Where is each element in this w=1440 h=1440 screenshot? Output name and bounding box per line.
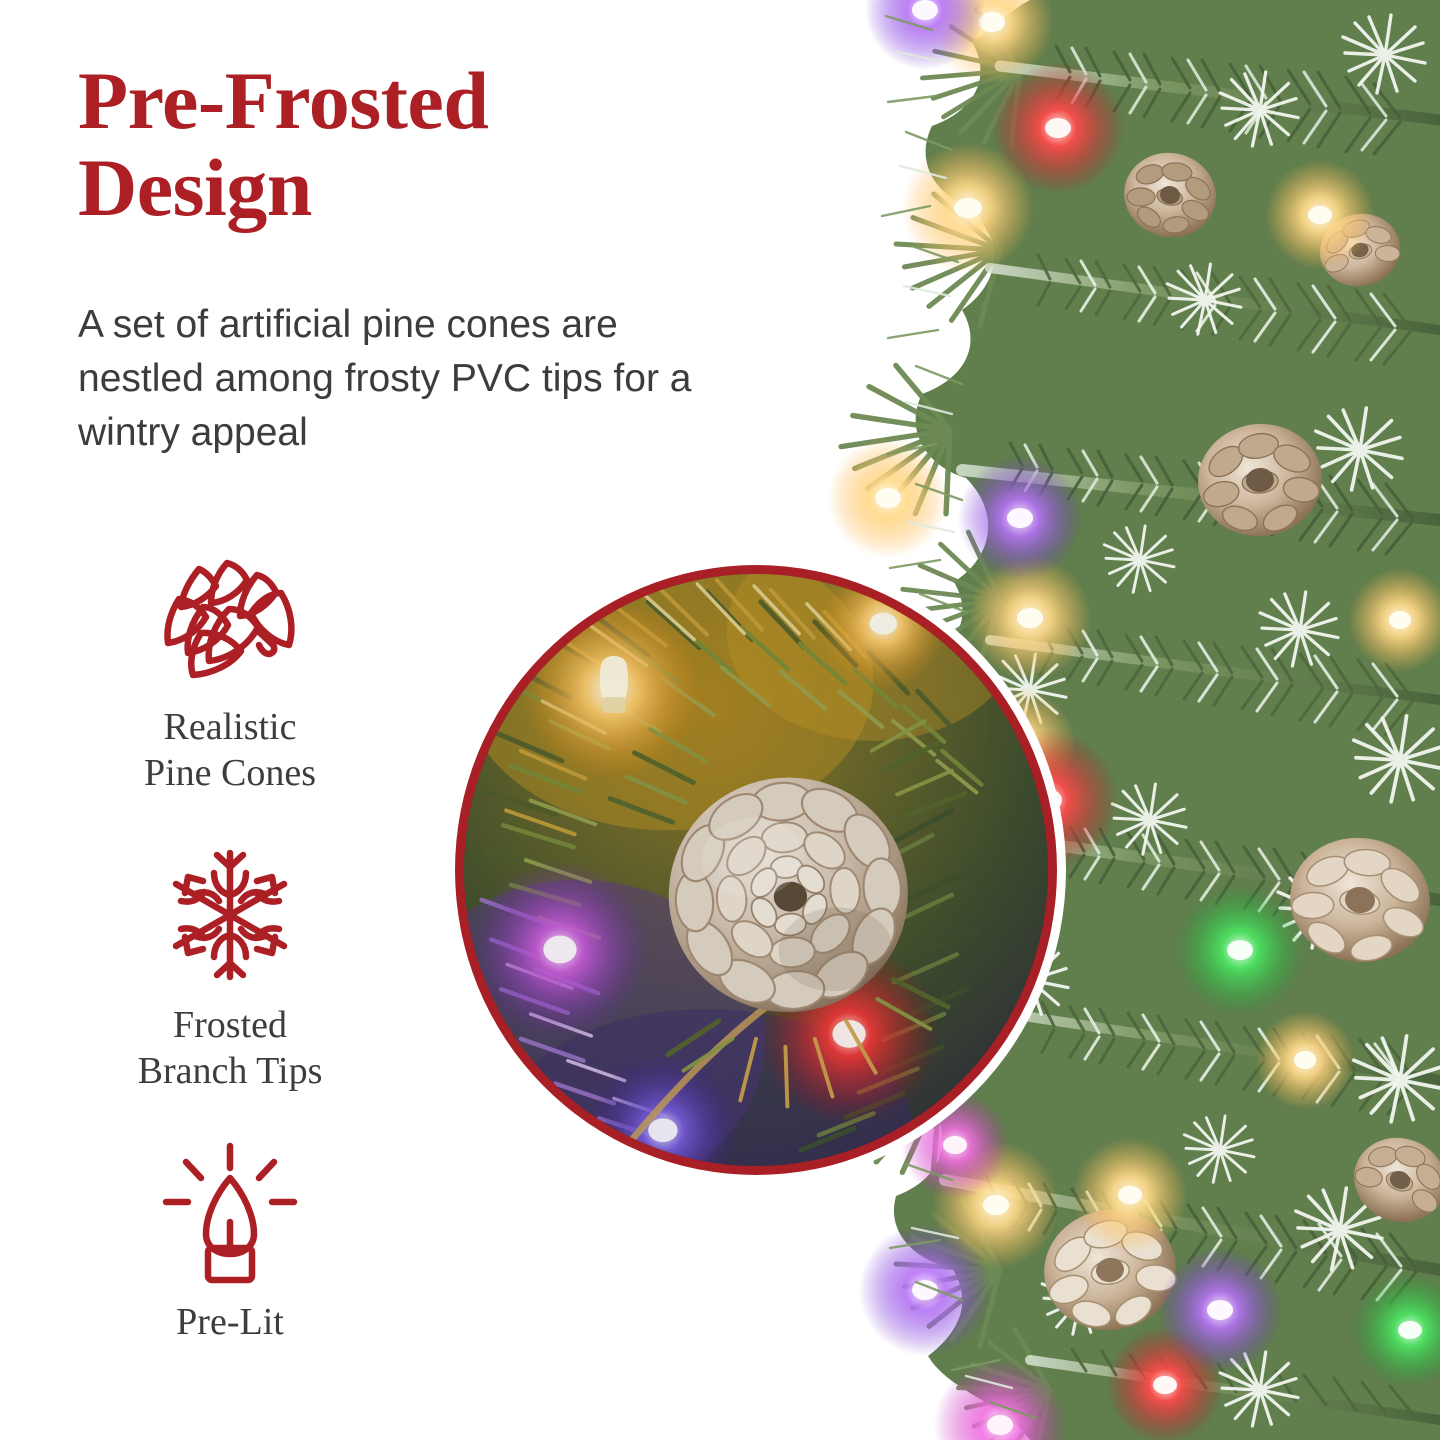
feature-list: Realistic Pine Cones — [75, 545, 385, 1346]
feature-label-frosted-branch-tips: Frosted Branch Tips — [138, 1002, 323, 1095]
snowflake-icon — [150, 843, 310, 988]
feature-item-frosted-branch-tips: Frosted Branch Tips — [75, 843, 385, 1095]
pine-cone-closeup-circle — [446, 556, 1066, 1184]
inset-red-border — [455, 565, 1057, 1175]
page-subtitle: A set of artificial pine cones are nestl… — [78, 298, 718, 459]
feature-label-realistic-pine-cones: Realistic Pine Cones — [144, 704, 316, 797]
headline-line-2: Design — [78, 142, 312, 233]
page-title: Pre-Frosted Design — [78, 58, 678, 232]
feature-item-realistic-pine-cones: Realistic Pine Cones — [75, 545, 385, 797]
pine-cone-icon — [150, 545, 310, 690]
feature-item-pre-lit: Pre-Lit — [75, 1140, 385, 1345]
feature-label-pre-lit: Pre-Lit — [176, 1299, 284, 1345]
headline-line-1: Pre-Frosted — [78, 55, 488, 146]
light-bulb-icon — [150, 1140, 310, 1285]
